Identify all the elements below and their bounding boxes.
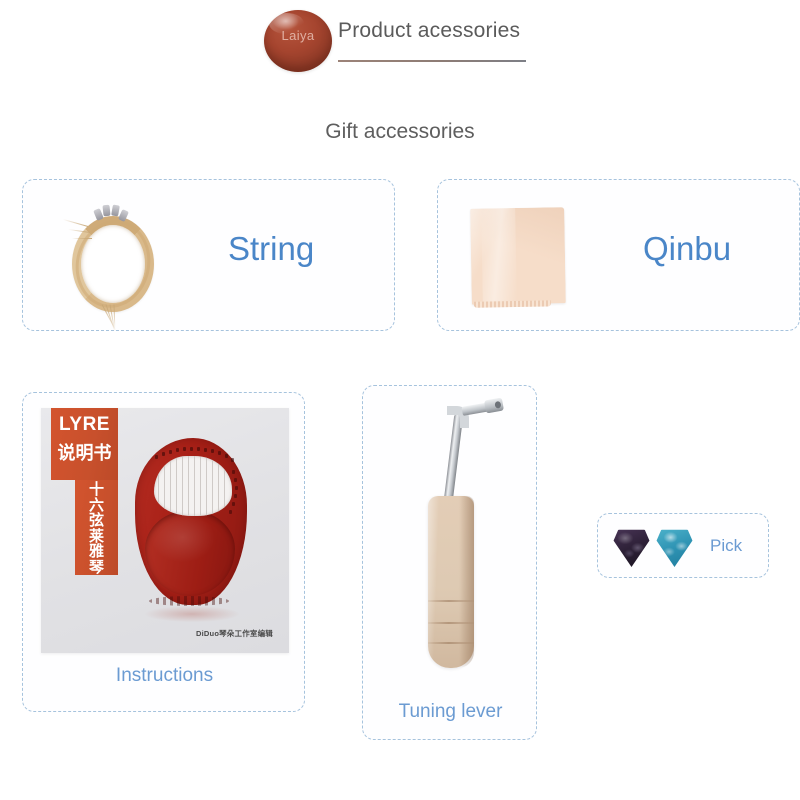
card-label-instructions: Instructions: [23, 665, 306, 687]
wrench-socket-head: [484, 398, 504, 414]
string-winding-knot: [94, 204, 130, 224]
handle-groove: [428, 622, 474, 624]
cloth-fold: [481, 208, 516, 305]
accessory-card-qinbu[interactable]: Qinbu: [437, 179, 800, 331]
accessory-card-string[interactable]: String: [22, 179, 395, 331]
brand-circle-icon: Laiya: [264, 10, 332, 72]
booklet-title-en: LYRE: [51, 414, 118, 436]
handle-groove: [428, 642, 474, 644]
accessory-card-pick[interactable]: Pick: [597, 513, 769, 578]
booklet-subtitle-char: 六: [75, 498, 118, 514]
cloth-hem: [474, 300, 551, 307]
card-label-qinbu: Qinbu: [643, 230, 731, 268]
booklet-subtitle-char: 弦: [75, 513, 118, 529]
card-label-string: String: [228, 230, 314, 268]
booklet-title-ribbon: LYRE 说明书 十 六 弦 莱 雅 琴: [51, 408, 118, 575]
instruction-booklet-icon: LYRE 说明书 十 六 弦 莱 雅 琴: [41, 408, 289, 653]
lyre-harp-illustration: [127, 438, 253, 620]
cleaning-cloth-icon: [470, 207, 566, 305]
booklet-subtitle-char: 琴: [75, 560, 118, 576]
tuning-wrench-icon: [409, 400, 505, 670]
card-label-pick: Pick: [710, 536, 742, 556]
page-title: Product acessories: [338, 19, 520, 43]
lyre-bottom-rim: [149, 596, 229, 606]
booklet-subtitle-char: 雅: [75, 544, 118, 560]
guitar-pick-teal-icon: [655, 527, 694, 567]
brand-logo-text: Laiya: [264, 28, 332, 43]
guitar-pick-dark-icon: [612, 527, 651, 567]
accessory-card-instructions[interactable]: LYRE 说明书 十 六 弦 莱 雅 琴: [22, 392, 305, 712]
page-header: Laiya Product acessories: [0, 0, 800, 100]
booklet-title-zh: 说明书: [51, 439, 118, 465]
section-heading: Gift accessories: [0, 120, 800, 144]
booklet-credit-text: DiDuo琴朵工作室编辑: [41, 628, 289, 639]
lyre-tuning-pegs-side: [223, 468, 239, 520]
wrench-wooden-handle: [428, 496, 474, 668]
handle-groove: [428, 600, 474, 602]
booklet-subtitle-char: 莱: [75, 529, 118, 545]
string-coil-icon: [58, 192, 168, 320]
booklet-subtitle-zh: 十 六 弦 莱 雅 琴: [75, 482, 118, 575]
title-underline-divider: [338, 60, 526, 62]
accessory-card-tuning-lever[interactable]: Tuning lever: [362, 385, 537, 740]
booklet-subtitle-char: 十: [75, 482, 118, 498]
card-label-tuning-lever: Tuning lever: [363, 701, 538, 723]
lyre-drop-shadow: [145, 606, 239, 622]
